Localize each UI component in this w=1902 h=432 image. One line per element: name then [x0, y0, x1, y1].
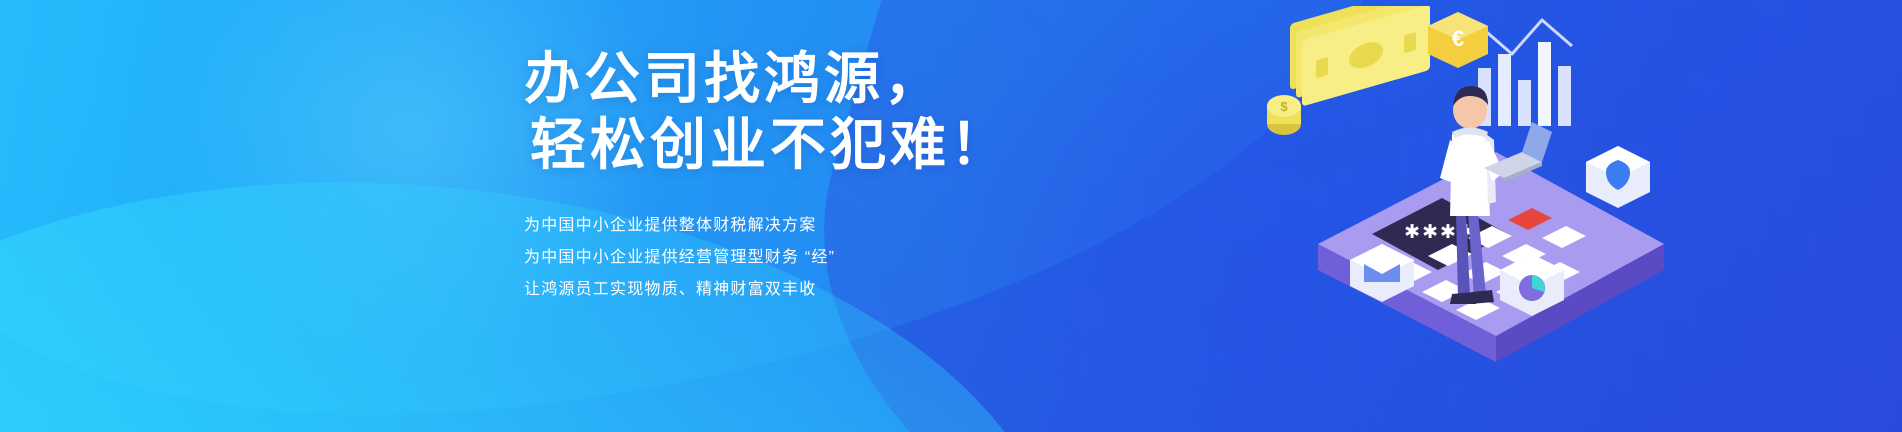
subtitle-line-1: 为中国中小企业提供整体财税解决方案 [524, 210, 994, 242]
subtitle-line-3: 让鸿源员工实现物质、精神财富双丰收 [524, 274, 994, 306]
headline-line-1: 办公司找鸿源， [524, 46, 994, 112]
isometric-finance-illustration: $ € [1260, 6, 1780, 406]
headline-line-2: 轻松创业不犯难！ [524, 112, 994, 178]
svg-text:€: € [1452, 26, 1464, 51]
euro-icon: € [1428, 12, 1488, 68]
shield-icon [1586, 146, 1650, 208]
svg-text:$: $ [1280, 99, 1288, 114]
coin-icon: $ [1267, 95, 1301, 135]
hero-banner: 办公司找鸿源， 轻松创业不犯难！ 为中国中小企业提供整体财税解决方案 为中国中小… [0, 0, 1902, 432]
banknotes-icon [1290, 6, 1430, 110]
banner-subtitles: 为中国中小企业提供整体财税解决方案 为中国中小企业提供经营管理型财务 “经” 让… [524, 210, 994, 306]
banner-copy: 办公司找鸿源， 轻松创业不犯难！ 为中国中小企业提供整体财税解决方案 为中国中小… [524, 46, 994, 306]
bar-chart-icon [1478, 20, 1572, 126]
subtitle-line-2: 为中国中小企业提供经营管理型财务 “经” [524, 242, 994, 274]
banner-headline: 办公司找鸿源， 轻松创业不犯难！ [524, 46, 994, 178]
